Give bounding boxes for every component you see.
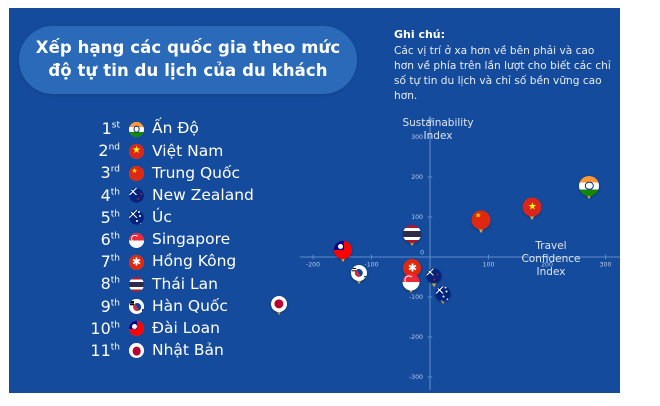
- rank-number: 3rd: [86, 165, 120, 181]
- rank-number-suffix: th: [111, 298, 120, 308]
- rank-number-value: 4: [101, 186, 111, 205]
- rank-number-suffix: th: [111, 276, 120, 286]
- country-name: Nhật Bản: [152, 343, 224, 359]
- flag-graphic: [129, 321, 144, 336]
- flag-graphic: [435, 286, 450, 301]
- ranking-row: 3rdTrung Quốc: [86, 162, 301, 184]
- flag-graphic: [579, 176, 599, 196]
- flag-hong-kong-icon: [129, 255, 144, 270]
- title-pill: Xếp hạng các quốc gia theo mức độ tự tin…: [19, 26, 357, 94]
- flag-graphic: [129, 299, 144, 314]
- flag-vietnam-icon: [523, 198, 542, 217]
- country-name: New Zealand: [152, 188, 254, 204]
- rank-number-value: 6: [101, 230, 111, 249]
- rank-number: 7th: [86, 254, 120, 270]
- rank-number-value: 1: [102, 119, 112, 138]
- flag-australia-icon: [129, 210, 144, 225]
- y-axis-title-line: Index: [424, 130, 453, 142]
- country-name: Singapore: [152, 232, 230, 248]
- flag-graphic: [129, 343, 144, 358]
- flag-graphic: [129, 255, 144, 270]
- rank-number: 1st: [86, 121, 120, 137]
- axis-tick-label: 0: [420, 250, 424, 257]
- flag-singapore-icon: [403, 273, 420, 290]
- x-axis-title: TravelConfidenceIndex: [496, 240, 606, 279]
- ranking-row: 1stẤn Độ: [86, 118, 301, 140]
- flag-india-icon: [579, 176, 599, 196]
- rank-number-suffix: th: [111, 232, 120, 242]
- flag-vietnam-icon: [129, 144, 144, 159]
- infographic-root: Xếp hạng các quốc gia theo mức độ tự tin…: [0, 0, 660, 406]
- rank-number-suffix: nd: [109, 143, 120, 153]
- country-name: Hồng Kông: [152, 254, 236, 270]
- axis-tick-label: -300: [409, 374, 423, 381]
- flag-graphic: [334, 241, 352, 259]
- rank-number-suffix: th: [111, 254, 120, 264]
- rank-number-value: 2: [98, 141, 108, 160]
- scatter-chart: -300-200-100100200300-300-200-1001002003…: [300, 112, 620, 390]
- title-line-1: Xếp hạng các quốc gia theo mức: [36, 38, 340, 57]
- flag-graphic: [129, 122, 144, 137]
- flag-taiwan-icon: [334, 241, 352, 259]
- x-axis-title-line: Index: [537, 266, 566, 278]
- flag-graphic: [472, 211, 491, 230]
- rank-number-suffix: rd: [111, 165, 120, 175]
- rank-number-value: 3: [101, 163, 111, 182]
- flag-graphic: [351, 265, 367, 281]
- ranking-row: 9thHàn Quốc: [86, 296, 301, 318]
- axis-tick-label: -200: [409, 334, 423, 341]
- country-name: Thái Lan: [152, 277, 218, 293]
- ranking-row: 8thThái Lan: [86, 273, 301, 295]
- x-axis-title-line: Confidence: [521, 253, 580, 265]
- rank-number-value: 5: [101, 208, 111, 227]
- rank-number: 8th: [86, 276, 120, 292]
- axis-tick-label: 100: [411, 214, 423, 221]
- rank-number: 11th: [86, 343, 120, 359]
- flag-new-zealand-icon: [426, 269, 441, 284]
- country-name: Hàn Quốc: [152, 299, 228, 315]
- x-axis-title-line: Travel: [535, 240, 566, 252]
- page-title: Xếp hạng các quốc gia theo mức độ tự tin…: [22, 37, 354, 83]
- y-axis-title: SustainabilityIndex: [378, 117, 498, 143]
- note-heading: Ghi chú:: [394, 27, 612, 43]
- flag-south-korea-icon: [129, 299, 144, 314]
- rank-number-suffix: st: [112, 121, 120, 131]
- flag-graphic: [426, 269, 441, 284]
- ranking-row: 6thSingapore: [86, 229, 301, 251]
- flag-taiwan-icon: [129, 321, 144, 336]
- note-block: Ghi chú: Các vị trí ở xa hơn về bên phải…: [394, 27, 612, 104]
- flag-graphic: [129, 277, 144, 292]
- flag-south-korea-icon: [351, 265, 367, 281]
- rank-number-value: 8: [101, 274, 111, 293]
- axis-tick-label: -100: [409, 294, 423, 301]
- country-name: Đài Loan: [152, 321, 220, 337]
- flag-australia-icon: [435, 286, 450, 301]
- rank-number: 2nd: [86, 143, 120, 159]
- y-axis-title-line: Sustainability: [402, 117, 473, 129]
- rank-number: 10th: [86, 321, 120, 337]
- rank-number-value: 10: [90, 319, 110, 338]
- flag-thailand-icon: [129, 277, 144, 292]
- axis-tick-label: -200: [306, 262, 320, 269]
- flag-new-zealand-icon: [129, 188, 144, 203]
- flag-china-icon: [472, 211, 491, 230]
- flag-graphic: [129, 166, 144, 181]
- rank-number-value: 7: [101, 252, 111, 271]
- rank-number-value: 11: [90, 341, 110, 360]
- left-white-gutter: [0, 0, 9, 406]
- flag-japan-icon: [129, 343, 144, 358]
- note-body: Các vị trí ở xa hơn về bên phải và cao h…: [394, 44, 612, 104]
- flag-graphic: [403, 225, 421, 243]
- ranking-row: 2ndViệt Nam: [86, 140, 301, 162]
- ranking-row: 5thÚc: [86, 207, 301, 229]
- country-name: Trung Quốc: [152, 166, 240, 182]
- country-name: Úc: [152, 210, 172, 226]
- rank-number: 4th: [86, 188, 120, 204]
- ranking-list: 1stẤn Độ2ndViệt Nam3rdTrung Quốc4thNew Z…: [86, 118, 301, 362]
- rank-number: 6th: [86, 232, 120, 248]
- flag-graphic: [129, 144, 144, 159]
- rank-number-suffix: th: [111, 187, 120, 197]
- flag-china-icon: [129, 166, 144, 181]
- rank-number-suffix: th: [111, 343, 120, 353]
- rank-number-suffix: th: [111, 320, 120, 330]
- flag-graphic: [403, 273, 420, 290]
- axis-tick-label: 100: [483, 262, 495, 269]
- country-name: Ấn Độ: [152, 121, 199, 137]
- title-line-2: độ tự tin du lịch của du khách: [48, 61, 327, 80]
- ranking-row: 10thĐài Loan: [86, 318, 301, 340]
- axis-tick-label: 200: [411, 174, 423, 181]
- rank-number-value: 9: [101, 297, 111, 316]
- flag-graphic: [129, 233, 144, 248]
- flag-singapore-icon: [129, 233, 144, 248]
- rank-number: 9th: [86, 299, 120, 315]
- rank-number: 5th: [86, 210, 120, 226]
- flag-thailand-icon: [403, 225, 421, 243]
- rank-number-suffix: th: [111, 210, 120, 220]
- ranking-row: 11thNhật Bản: [86, 340, 301, 362]
- ranking-row: 4thNew Zealand: [86, 185, 301, 207]
- country-name: Việt Nam: [152, 144, 223, 160]
- flag-graphic: [129, 188, 144, 203]
- flag-graphic: [523, 198, 542, 217]
- ranking-row: 7thHồng Kông: [86, 251, 301, 273]
- flag-india-icon: [129, 122, 144, 137]
- flag-graphic: [129, 210, 144, 225]
